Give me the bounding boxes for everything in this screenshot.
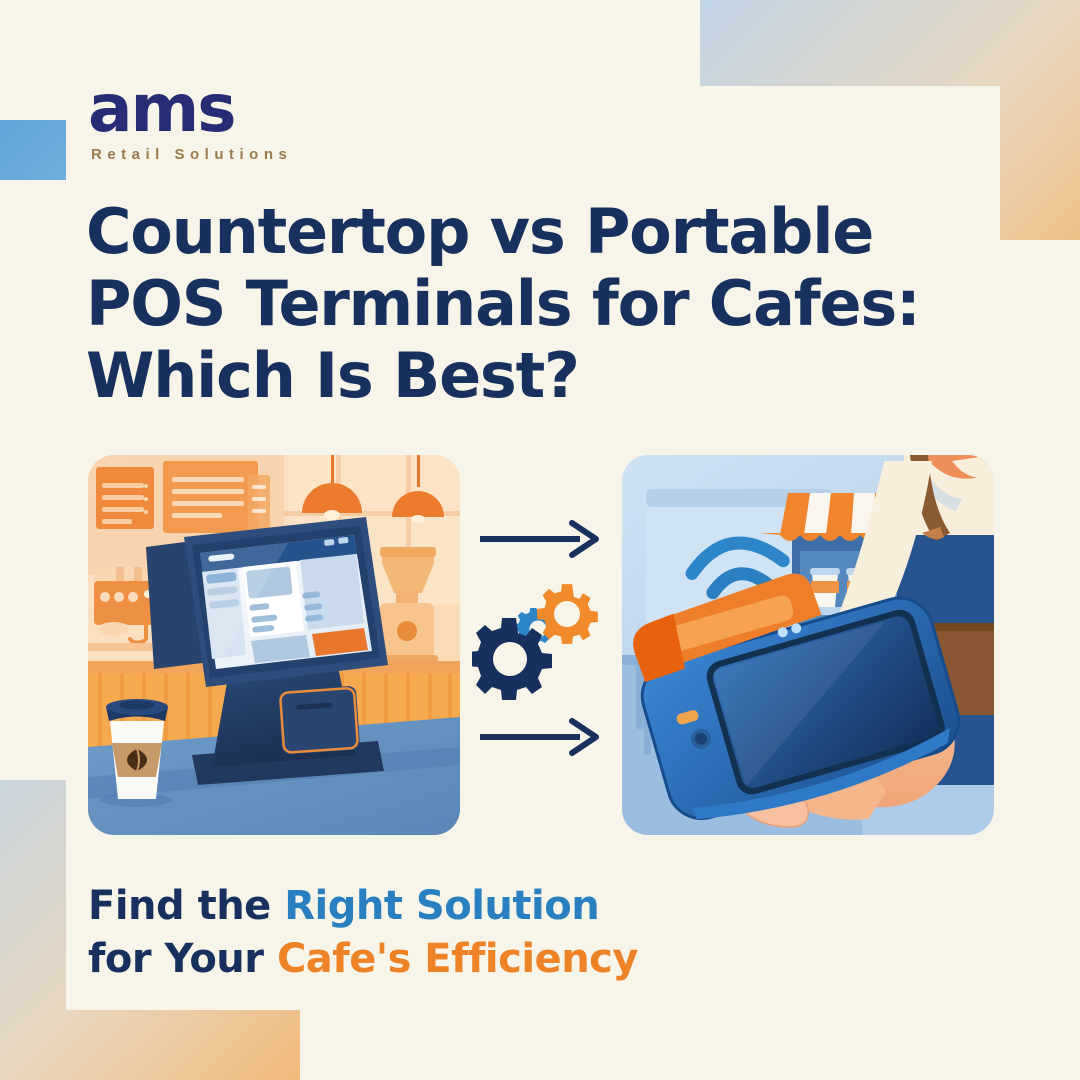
arrow-right-icon-bottom	[480, 721, 596, 753]
countertop-pos-illustration	[88, 455, 460, 835]
page-title: Countertop vs Portable POS Terminals for…	[86, 196, 956, 412]
tagline-line1-plain: Find the	[88, 883, 284, 929]
arrow-right-icon-top	[480, 523, 596, 555]
tagline-line1-accent: Right Solution	[284, 883, 599, 929]
gears-group	[472, 584, 598, 700]
brand-logo: ams Retail Solutions	[88, 76, 292, 163]
tagline-line2-accent: Cafe's Efficiency	[277, 936, 638, 982]
headline-line-3: Which Is Best?	[86, 340, 956, 412]
gear-orange-icon	[537, 584, 598, 644]
brand-logo-tagline: Retail Solutions	[91, 146, 292, 163]
headline-line-2: POS Terminals for Cafes:	[86, 268, 956, 340]
tagline: Find the Right Solution for Your Cafe's …	[88, 880, 638, 986]
headline-line-1: Countertop vs Portable	[86, 196, 956, 268]
brand-logo-wordmark: ams	[88, 76, 292, 142]
tagline-line2-plain: for Your	[88, 936, 277, 982]
poster-canvas: ams Retail Solutions Countertop vs Porta…	[0, 0, 1080, 1080]
coffee-grinder	[376, 547, 438, 663]
menu-boards	[96, 461, 270, 533]
tagline-line-2: for Your Cafe's Efficiency	[88, 933, 638, 986]
transition-connector	[472, 505, 608, 775]
portable-pos-illustration	[622, 455, 994, 835]
tagline-line-1: Find the Right Solution	[88, 880, 638, 933]
